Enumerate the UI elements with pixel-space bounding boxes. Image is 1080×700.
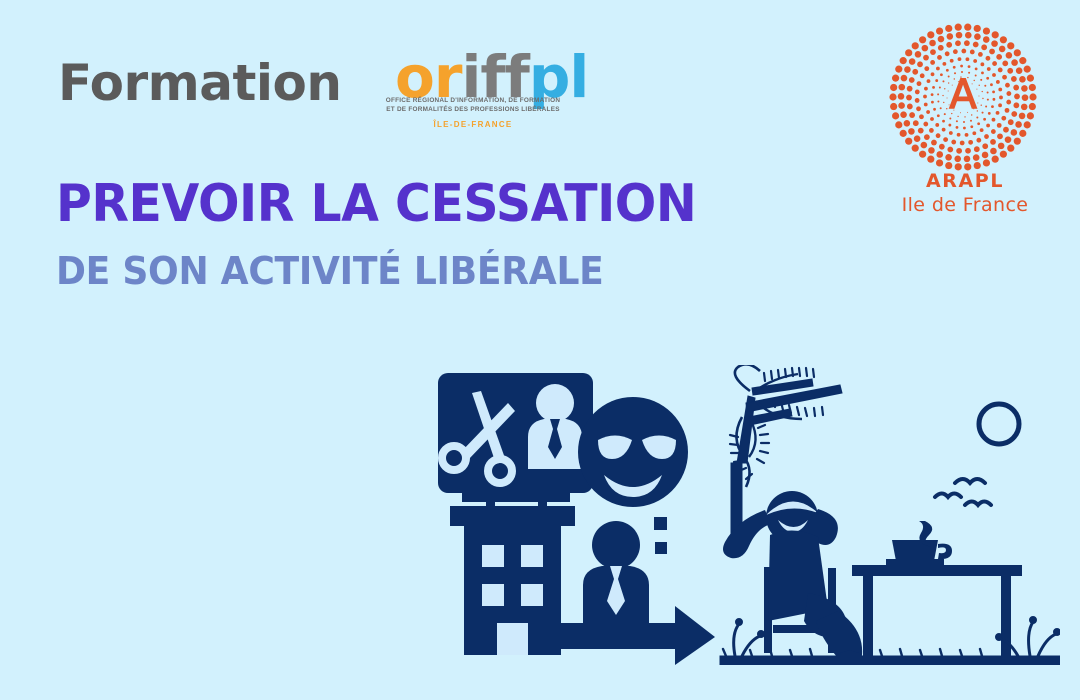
coffee-cup-icon <box>886 521 952 566</box>
page-title: PREVOIR LA CESSATION <box>56 178 696 230</box>
illustration <box>420 365 1060 665</box>
page-eyebrow-title: Formation <box>58 58 341 108</box>
relaxation-scene-group <box>720 365 1060 665</box>
thought-dot-small <box>655 542 667 554</box>
table-icon <box>852 565 1022 656</box>
oriffpl-tagline-line2: ET DE FORMALITÉS DES PROFESSIONS LIBÉRAL… <box>385 105 561 114</box>
arapl-subtitle-label: Ile de France <box>880 194 1050 216</box>
thought-dot-large <box>654 517 667 530</box>
birds-icon <box>935 479 991 505</box>
page-subtitle: DE SON ACTIVITÉ LIBÉRALE <box>56 252 604 290</box>
arapl-logo: A ARAPL Ile de France <box>880 22 1050 222</box>
businessperson-icon <box>583 521 649 623</box>
arapl-dot-circle-icon: A <box>888 22 1038 172</box>
shop-closing-group <box>438 373 593 655</box>
oriffpl-tagline: OFFICE RÉGIONAL D'INFORMATION, DE FORMAT… <box>385 96 561 115</box>
relaxing-person-icon <box>723 491 864 665</box>
oriffpl-region-label: ÎLE-DE-FRANCE <box>385 120 561 129</box>
oriffpl-logo: oriffpl OFFICE RÉGIONAL D'INFORMATION, D… <box>385 48 615 143</box>
sign-post <box>462 493 570 502</box>
oriffpl-tagline-line1: OFFICE RÉGIONAL D'INFORMATION, DE FORMAT… <box>385 96 561 105</box>
sun-icon <box>979 404 1019 444</box>
arapl-center-letter: A <box>949 72 977 118</box>
happy-face-icon <box>578 397 688 507</box>
arapl-name-label: ARAPL <box>880 170 1050 192</box>
header: Formation oriffpl OFFICE RÉGIONAL D'INFO… <box>0 0 1080 160</box>
